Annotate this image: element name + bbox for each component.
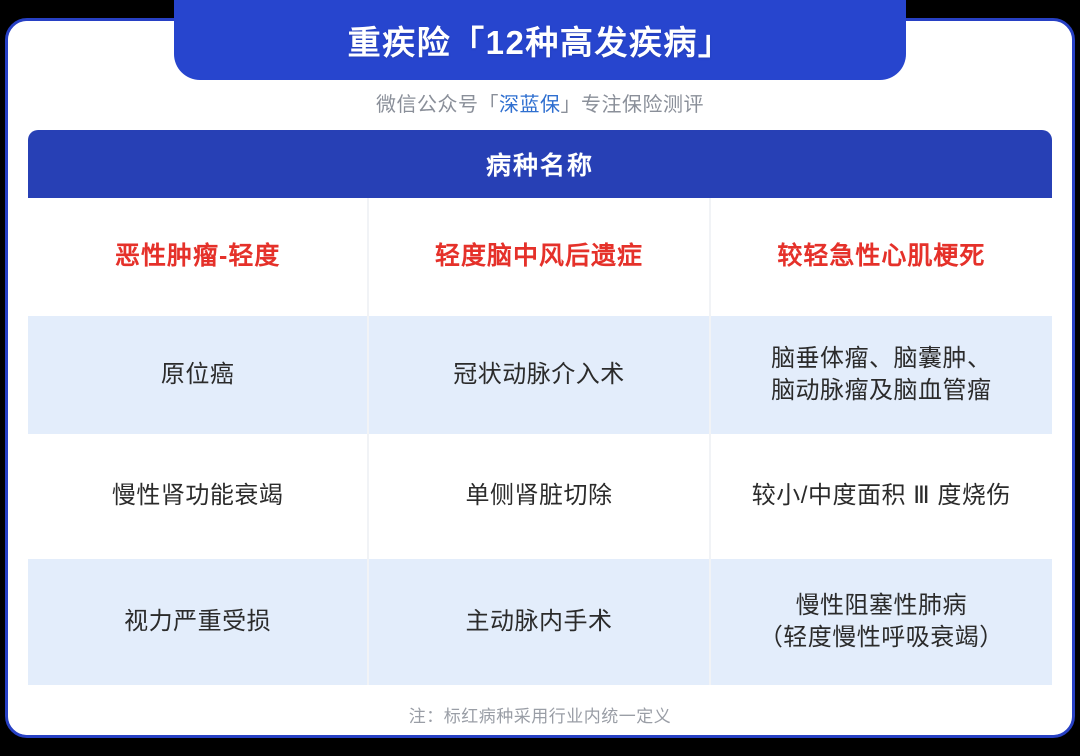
table-cell: 较小/中度面积 Ⅲ 度烧伤	[711, 434, 1052, 559]
cell-label: 较小/中度面积 Ⅲ 度烧伤	[752, 480, 1011, 512]
table-cell: 脑垂体瘤、脑囊肿、 脑动脉瘤及脑血管瘤	[711, 316, 1052, 434]
table-row: 慢性肾功能衰竭 单侧肾脏切除 较小/中度面积 Ⅲ 度烧伤	[28, 434, 1052, 559]
subtitle: 微信公众号「深蓝保」专注保险测评	[0, 88, 1080, 117]
table-row: 恶性肿瘤-轻度 轻度脑中风后遗症 较轻急性心肌梗死	[28, 198, 1052, 316]
title-banner: 重疾险「12种高发疾病」	[174, 0, 906, 80]
poster-root: 深蓝保 shenlanbao.com 独立丨专业丨诚信 重疾险「12种高发疾病」…	[0, 0, 1080, 756]
table-cell: 原位癌	[28, 316, 369, 434]
cell-label: 冠状动脉介入术	[453, 359, 625, 391]
cell-label: 原位癌	[161, 359, 235, 391]
table-cell: 主动脉内手术	[369, 559, 710, 685]
table-cell: 恶性肿瘤-轻度	[28, 198, 369, 316]
table-cell: 慢性肾功能衰竭	[28, 434, 369, 559]
subtitle-brand: 深蓝保	[499, 94, 561, 116]
table-cell: 较轻急性心肌梗死	[711, 198, 1052, 316]
table-cell: 慢性阻塞性肺病 （轻度慢性呼吸衰竭）	[711, 559, 1052, 685]
cell-label: 主动脉内手术	[465, 606, 612, 638]
subtitle-suffix: 」专注保险测评	[561, 94, 705, 116]
page-title: 重疾险「12种高发疾病」	[348, 16, 733, 64]
cell-label: 慢性阻塞性肺病 （轻度慢性呼吸衰竭）	[759, 590, 1004, 654]
table-cell: 冠状动脉介入术	[369, 316, 710, 434]
subtitle-prefix: 微信公众号「	[376, 94, 499, 116]
table-header: 病种名称	[28, 130, 1052, 198]
disease-table: 病种名称 恶性肿瘤-轻度 轻度脑中风后遗症 较轻急性心肌梗死 原位癌 冠状动脉介…	[28, 130, 1052, 685]
table-cell: 单侧肾脏切除	[369, 434, 710, 559]
cell-label: 单侧肾脏切除	[465, 480, 612, 512]
cell-label: 慢性肾功能衰竭	[112, 480, 284, 512]
footnote: 注：标红病种采用行业内统一定义	[0, 702, 1080, 727]
table-cell: 视力严重受损	[28, 559, 369, 685]
cell-label: 轻度脑中风后遗症	[435, 240, 643, 274]
cell-label: 脑垂体瘤、脑囊肿、 脑动脉瘤及脑血管瘤	[771, 343, 992, 407]
table-cell: 轻度脑中风后遗症	[369, 198, 710, 316]
table-row: 视力严重受损 主动脉内手术 慢性阻塞性肺病 （轻度慢性呼吸衰竭）	[28, 559, 1052, 685]
table-header-label: 病种名称	[486, 146, 594, 182]
table-row: 原位癌 冠状动脉介入术 脑垂体瘤、脑囊肿、 脑动脉瘤及脑血管瘤	[28, 316, 1052, 434]
cell-label: 视力严重受损	[124, 606, 271, 638]
cell-label: 恶性肿瘤-轻度	[115, 240, 280, 274]
cell-label: 较轻急性心肌梗死	[777, 240, 985, 274]
